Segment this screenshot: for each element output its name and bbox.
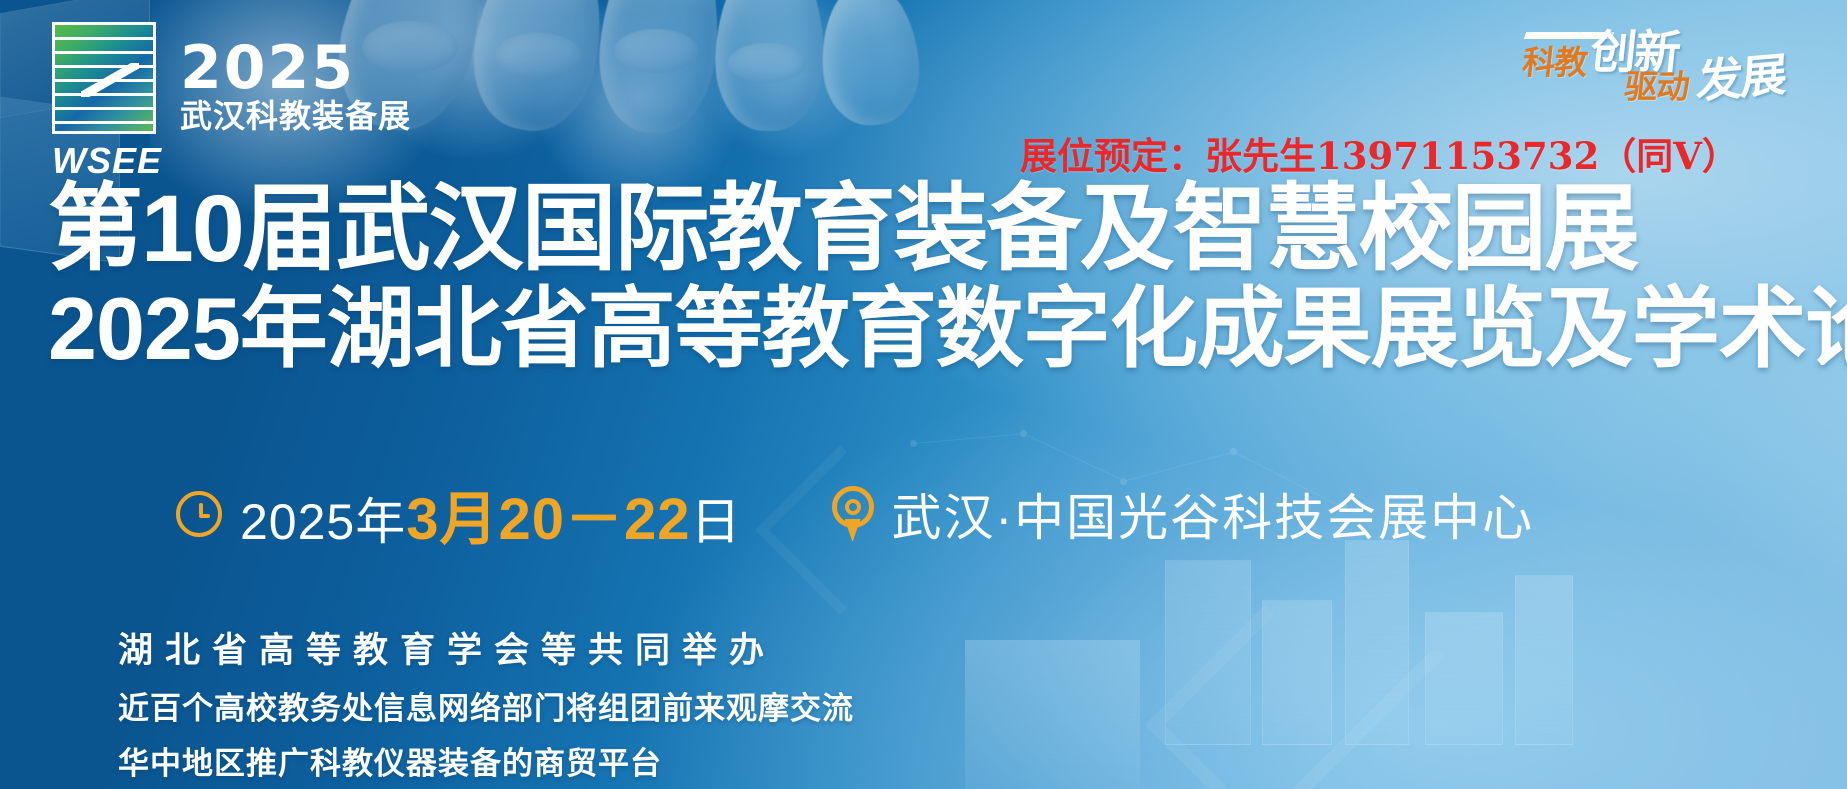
iso-tower xyxy=(1345,540,1409,745)
event-venue: 武汉·中国光谷科技会展中心 xyxy=(832,478,1535,550)
exhibition-banner: WSEE 2025 武汉科教装备展 科教 创新 驱动 发展 展位预定：张先生13… xyxy=(0,0,1847,789)
robot-knuckle xyxy=(728,43,806,83)
logo-name-cn: 武汉科教装备展 xyxy=(180,99,411,134)
chevron-decor-icon xyxy=(1145,605,1385,789)
robot-finger xyxy=(713,0,827,133)
robot-finger xyxy=(462,0,616,140)
iso-tower xyxy=(1425,612,1503,745)
robot-finger xyxy=(592,0,729,138)
note-line-1: 湖北省高等教育学会等共同举办 xyxy=(118,622,854,673)
location-pin-icon xyxy=(832,486,874,542)
iso-plinth xyxy=(965,640,1140,789)
booking-contact-text: 展位预定：张先生13971153732（同V） xyxy=(1020,126,1739,180)
logo-year: 2025 xyxy=(180,40,411,97)
headline-line-2: 2025年湖北省高等教育数字化成果展览及学术论坛 xyxy=(48,285,1808,373)
wsee-logo: WSEE 2025 武汉科教装备展 xyxy=(52,22,411,182)
event-date-text: 2025年3月20－22日 xyxy=(240,472,742,556)
slogan-part-4: 发展 xyxy=(1695,38,1787,111)
note-line-3: 华中地区推广科教仪器装备的商贸平台 xyxy=(118,738,854,783)
headline-line-1: 第10届武汉国际教育装备及智慧校园展 xyxy=(48,182,1808,277)
headline-group: 第10届武汉国际教育装备及智慧校园展 2025年湖北省高等教育数字化成果展览及学… xyxy=(48,182,1808,373)
robot-knuckle xyxy=(614,29,698,73)
note-line-2: 近百个高校教务处信息网络部门将组团前来观摩交流 xyxy=(118,683,854,728)
event-venue-text: 武汉·中国光谷科技会展中心 xyxy=(892,478,1535,550)
iso-tower xyxy=(1165,560,1251,745)
supporting-notes: 湖北省高等教育学会等共同举办 近百个高校教务处信息网络部门将组团前来观摩交流 华… xyxy=(118,622,854,783)
date-suffix: 日 xyxy=(691,494,742,550)
slogan-part-3: 驱动 xyxy=(1622,60,1691,108)
wsee-emblem-icon xyxy=(52,22,156,134)
robot-finger xyxy=(817,0,923,128)
event-date: 2025年3月20－22日 xyxy=(176,472,742,556)
slogan-group: 科教 创新 驱动 发展 xyxy=(1529,14,1809,106)
iso-tower xyxy=(1262,600,1332,745)
chevron-decor-icon xyxy=(1287,647,1584,789)
event-info-row: 2025年3月20－22日 武汉·中国光谷科技会展中心 xyxy=(176,472,1534,556)
iso-tower xyxy=(1515,575,1573,745)
slogan-part-1: 科教 xyxy=(1520,36,1589,84)
date-year: 2025年 xyxy=(240,494,406,550)
clock-icon xyxy=(176,491,222,537)
robot-knuckle xyxy=(494,33,582,79)
date-range: 3月20－22 xyxy=(406,487,690,552)
